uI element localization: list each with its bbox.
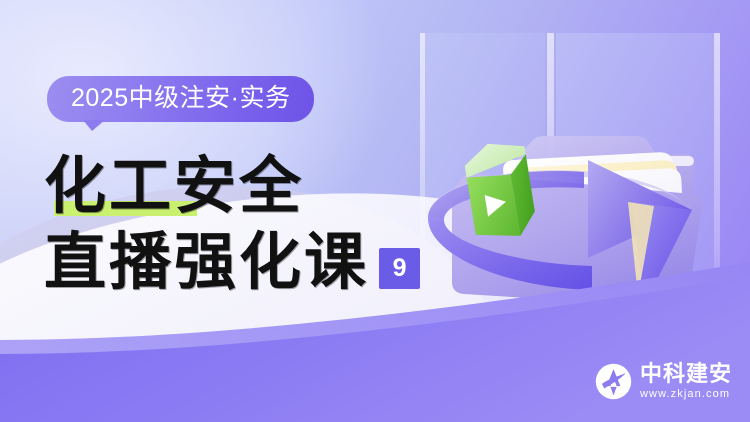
title-line-1: 化工安全	[44, 152, 464, 224]
badge-tail-icon	[83, 120, 105, 131]
course-category-badge: 2025中级注安·实务	[47, 76, 314, 122]
zkjan-circle-mark-icon	[595, 363, 632, 400]
title-line-2: 直播强化课 9	[44, 224, 464, 298]
brand-logo[interactable]: 中科建安 www.zkjan.com	[595, 363, 732, 400]
logo-text-group: 中科建安 www.zkjan.com	[640, 363, 732, 400]
logo-brand-name: 中科建安	[640, 363, 732, 385]
title-block: 化工安全 直播强化课 9	[44, 152, 464, 298]
course-banner: 2025中级注安·实务 化工安全 直播强化课 9 中科建安 www.zkj	[0, 0, 750, 422]
title-line-1-text: 化工安全	[44, 153, 304, 221]
logo-website-url: www.zkjan.com	[640, 389, 732, 400]
banner-content: 2025中级注安·实务 化工安全 直播强化课 9 中科建安 www.zkj	[0, 0, 750, 422]
badge-label: 2025中级注安·实务	[47, 76, 314, 122]
lesson-number-badge: 9	[379, 248, 420, 289]
title-line-2-text: 直播强化课	[44, 228, 369, 298]
